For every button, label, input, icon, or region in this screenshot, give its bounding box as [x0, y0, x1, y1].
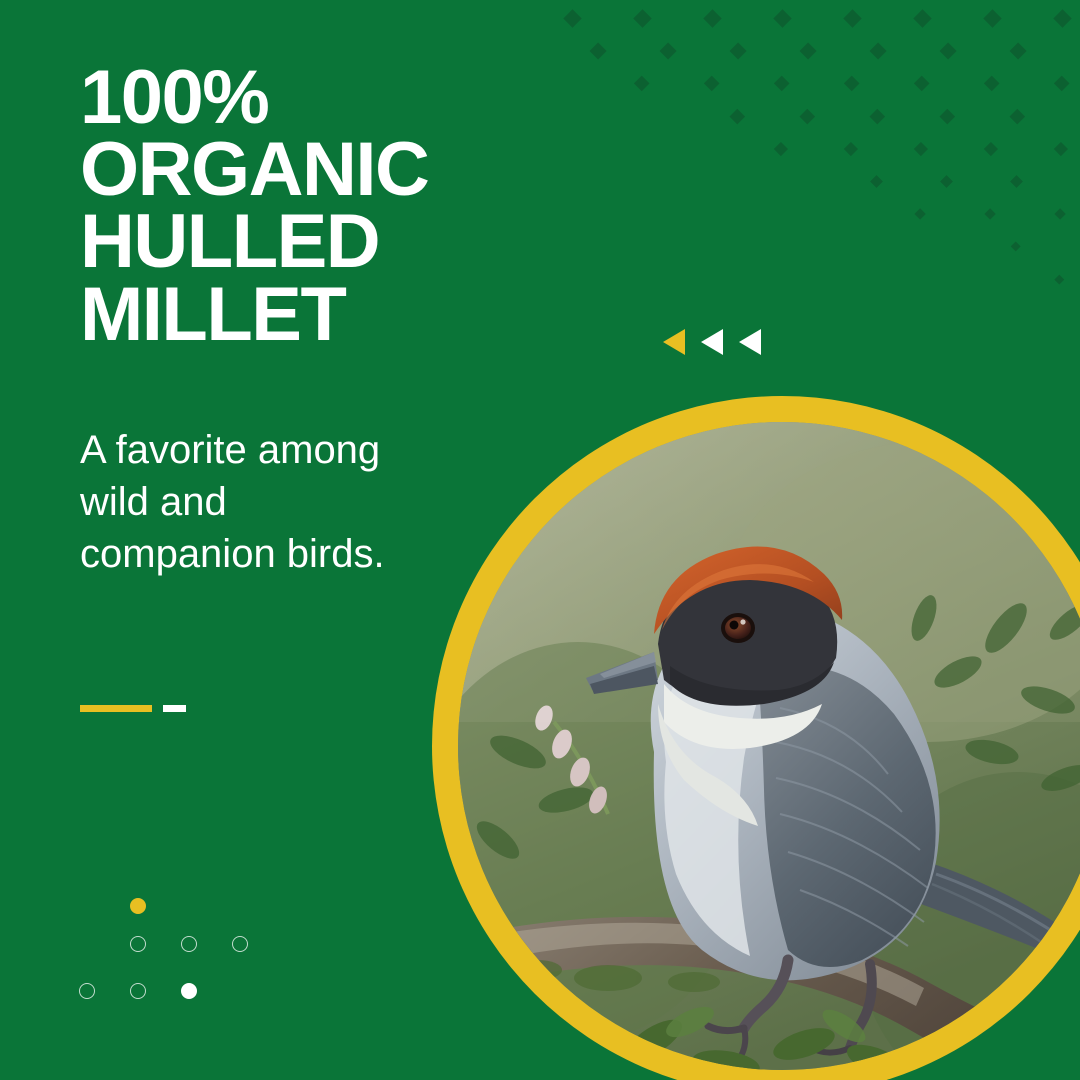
subtitle-text: A favorite among wild and companion bird…	[80, 424, 430, 580]
headline-line-4: MILLET	[80, 279, 600, 351]
dot-indicator	[130, 936, 146, 952]
diamond-icon	[1053, 9, 1071, 27]
diamond-icon	[1009, 42, 1026, 59]
diamond-icon	[984, 208, 996, 220]
diamond-icon	[730, 109, 745, 124]
diamond-icon	[799, 42, 816, 59]
diamond-icon	[844, 142, 858, 156]
dot-indicator	[130, 983, 146, 999]
diamond-icon	[914, 76, 930, 92]
diamond-icon	[940, 109, 955, 124]
diamond-icon	[1010, 109, 1025, 124]
diamond-icon	[774, 76, 790, 92]
white-rule-divider	[163, 705, 186, 712]
diamond-icon	[563, 9, 581, 27]
triangle-left-icon-1	[663, 329, 685, 355]
dot-indicator	[130, 898, 146, 914]
diamond-icon	[773, 9, 791, 27]
diamond-icon	[984, 76, 1000, 92]
diamond-pattern-decoration	[560, 0, 1080, 320]
diamond-icon	[1055, 275, 1064, 284]
diamond-icon	[1054, 76, 1070, 92]
diamond-icon	[1054, 142, 1068, 156]
diamond-icon	[870, 175, 883, 188]
bird-photo	[458, 422, 1080, 1070]
divider-rule-group	[80, 705, 186, 712]
diamond-icon	[774, 142, 788, 156]
headline-line-1: 100%	[80, 62, 600, 134]
diamond-icon	[869, 42, 886, 59]
diamond-icon	[589, 42, 606, 59]
bird-photo-illustration	[458, 422, 1080, 1070]
headline-line-2: ORGANIC	[80, 134, 600, 206]
diamond-icon	[844, 76, 860, 92]
diamond-icon	[914, 208, 926, 220]
dot-indicator	[181, 983, 197, 999]
diamond-icon	[1010, 241, 1020, 251]
diamond-icon	[659, 42, 676, 59]
diamond-icon	[940, 175, 953, 188]
bird-photo-medallion	[432, 396, 1080, 1080]
triangle-left-icon-2	[701, 329, 723, 355]
dot-indicator	[79, 983, 95, 999]
diamond-icon	[729, 42, 746, 59]
diamond-icon	[634, 76, 650, 92]
dot-indicator	[232, 936, 248, 952]
diamond-icon	[633, 9, 651, 27]
diamond-icon	[800, 109, 815, 124]
diamond-icon	[984, 142, 998, 156]
diamond-icon	[914, 142, 928, 156]
page-title: 100% ORGANIC HULLED MILLET	[80, 62, 600, 351]
headline-line-3: HULLED	[80, 206, 600, 278]
dot-indicator	[181, 936, 197, 952]
diamond-icon	[983, 9, 1001, 27]
gold-rule-divider	[80, 705, 152, 712]
poster-canvas: 100% ORGANIC HULLED MILLET A favorite am…	[0, 0, 1080, 1080]
diamond-icon	[1010, 175, 1023, 188]
diamond-icon	[913, 9, 931, 27]
diamond-icon	[870, 109, 885, 124]
diamond-icon	[703, 9, 721, 27]
diamond-icon	[704, 76, 720, 92]
triangle-arrow-group	[663, 329, 777, 355]
diamond-icon	[1054, 208, 1066, 220]
triangle-left-icon-3	[739, 329, 761, 355]
diamond-icon	[939, 42, 956, 59]
diamond-icon	[843, 9, 861, 27]
